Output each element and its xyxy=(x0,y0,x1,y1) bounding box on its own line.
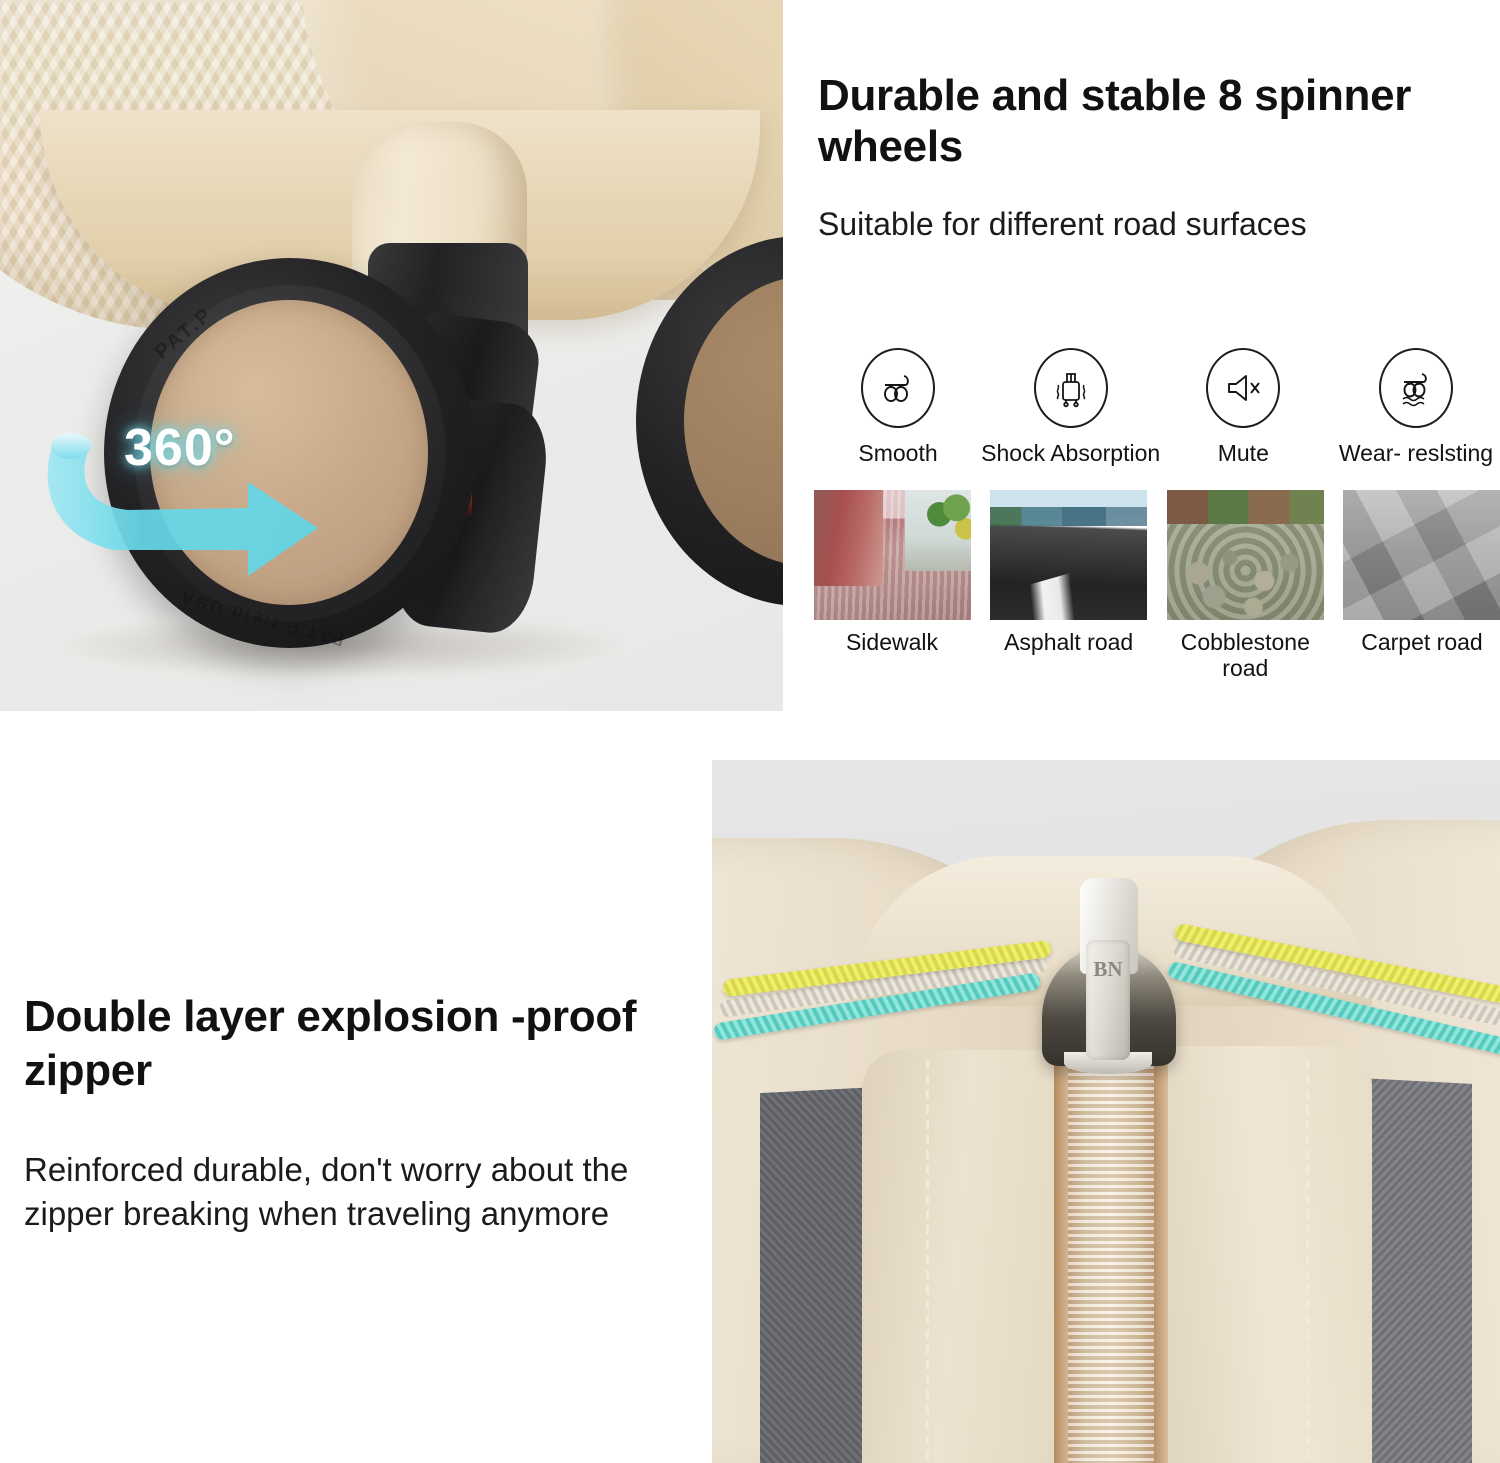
muted-speaker-icon xyxy=(1206,348,1280,428)
caster-wheel-icon xyxy=(861,348,935,428)
feature-label: Mute xyxy=(1218,440,1269,467)
wheels-subhead: Suitable for different road surfaces xyxy=(818,206,1498,243)
stitching-right xyxy=(1306,1060,1309,1463)
zipper-brand-mark: BN xyxy=(1086,958,1130,980)
wheel-on-waves-icon xyxy=(1379,348,1453,428)
zipper-tape xyxy=(1068,1038,1154,1463)
road-surface-sidewalk: Sidewalk xyxy=(812,490,972,682)
road-surfaces-row: Sidewalk Asphalt road Cobblestone road C… xyxy=(812,490,1500,682)
badge-360-degrees: 360° xyxy=(124,418,236,478)
padded-panel-right xyxy=(1142,1046,1372,1463)
feature-shock-absorption: Shock Absorption xyxy=(985,348,1157,467)
wheels-headline: Durable and stable 8 spinner wheels xyxy=(818,70,1500,173)
road-caption: Cobblestone road xyxy=(1165,630,1325,682)
feature-label: Wear- reslsting xyxy=(1339,440,1493,467)
zipper-closeup-photo: BN xyxy=(712,760,1500,1463)
feature-icons-row: Smooth Shock Absorption xyxy=(812,348,1500,467)
road-surface-carpet: Carpet road xyxy=(1342,490,1500,682)
cobblestone-road-thumbnail xyxy=(1167,490,1324,620)
padded-panel-left xyxy=(862,1050,1072,1463)
carpet-road-thumbnail xyxy=(1343,490,1500,620)
asphalt-road-thumbnail xyxy=(990,490,1147,620)
zipper-headline: Double layer explosion -proof zipper xyxy=(24,990,684,1097)
zipper-body-text: Reinforced durable, don't worry about th… xyxy=(24,1148,684,1236)
wheels-info-column: Durable and stable 8 spinner wheels Suit… xyxy=(812,0,1500,711)
product-infographic: PAT.P PAT.P field USA xyxy=(0,0,1500,1463)
feature-label: Smooth xyxy=(858,440,937,467)
feature-mute: Mute xyxy=(1157,348,1329,467)
feature-label: Shock Absorption xyxy=(981,440,1160,467)
road-caption: Asphalt road xyxy=(1004,630,1133,656)
road-surface-cobblestone: Cobblestone road xyxy=(1165,490,1325,682)
road-surface-asphalt: Asphalt road xyxy=(989,490,1149,682)
feature-smooth: Smooth xyxy=(812,348,984,467)
zipper-track-right xyxy=(1152,1036,1168,1463)
spinner-wheel-photo: PAT.P PAT.P field USA xyxy=(0,0,783,711)
sidewalk-thumbnail xyxy=(814,490,971,620)
feature-wear-resisting: Wear- reslsting xyxy=(1330,348,1500,467)
road-caption: Sidewalk xyxy=(846,630,938,656)
vibrating-suitcase-icon xyxy=(1034,348,1108,428)
road-caption: Carpet road xyxy=(1361,630,1482,656)
stitching-left xyxy=(926,1060,929,1463)
